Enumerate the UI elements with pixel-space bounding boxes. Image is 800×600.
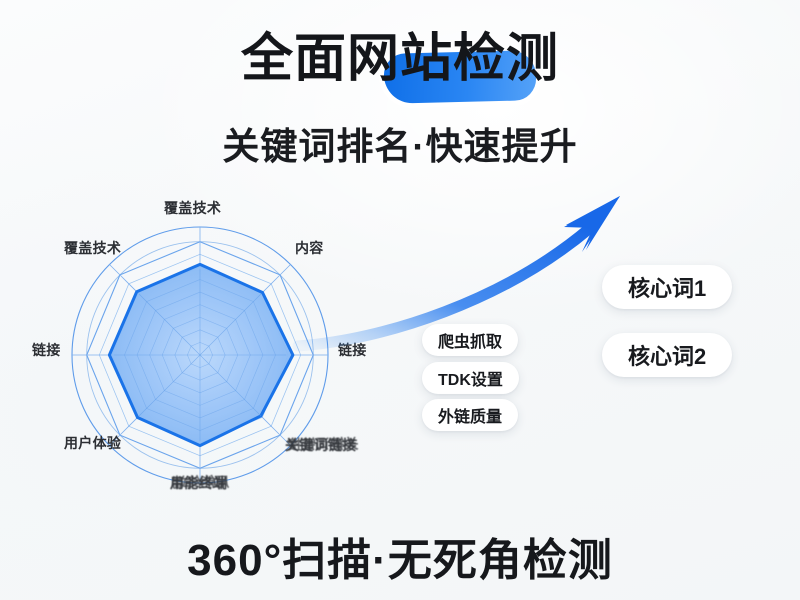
radar-label-se: 关键词链接 关键词链接 xyxy=(285,435,357,455)
radar-label-s: 用能终端 用能终端 xyxy=(170,473,227,493)
keyword-pill-2-label: 核心词2 xyxy=(628,339,706,371)
radar-label-n: 覆盖技术 xyxy=(164,198,221,218)
page-title: 全面网站检测 xyxy=(241,30,559,88)
tag-pill-tdk[interactable]: TDK设置 xyxy=(422,362,519,394)
headline-block: 全面网站检测 xyxy=(0,30,800,88)
tag-pill-backlink[interactable]: 外链质量 xyxy=(422,399,518,431)
radar-label-w: 链接 xyxy=(32,340,61,360)
tag-pill-backlink-label: 外链质量 xyxy=(438,403,502,427)
keyword-pill-2[interactable]: 核心词2 xyxy=(602,333,732,377)
keyword-pill-1-label: 核心词1 xyxy=(628,271,706,303)
radar-label-sw: 用户体验 xyxy=(64,433,121,453)
tag-pill-crawl[interactable]: 爬虫抓取 xyxy=(422,324,518,356)
radar-label-s-ghost: 用能终端 xyxy=(172,472,229,493)
tag-pill-crawl-label: 爬虫抓取 xyxy=(438,328,502,352)
keyword-pill-1[interactable]: 核心词1 xyxy=(602,265,732,309)
tag-pill-tdk-label: TDK设置 xyxy=(438,366,503,390)
poster-canvas: 全面网站检测 关键词排名·快速提升 覆盖技术 内容 链接 关键词链接 关键词链 xyxy=(0,0,800,600)
footer-tagline: 360°扫描·无死角检测 xyxy=(0,524,800,588)
page-title-text: 全面网站检测 xyxy=(241,30,559,88)
radar-label-se-ghost: 关键词链接 xyxy=(287,434,359,455)
radar-label-nw: 覆盖技术 xyxy=(64,238,121,258)
page-subtitle: 关键词排名·快速提升 xyxy=(0,116,800,170)
radar-inner-rings xyxy=(114,269,286,441)
